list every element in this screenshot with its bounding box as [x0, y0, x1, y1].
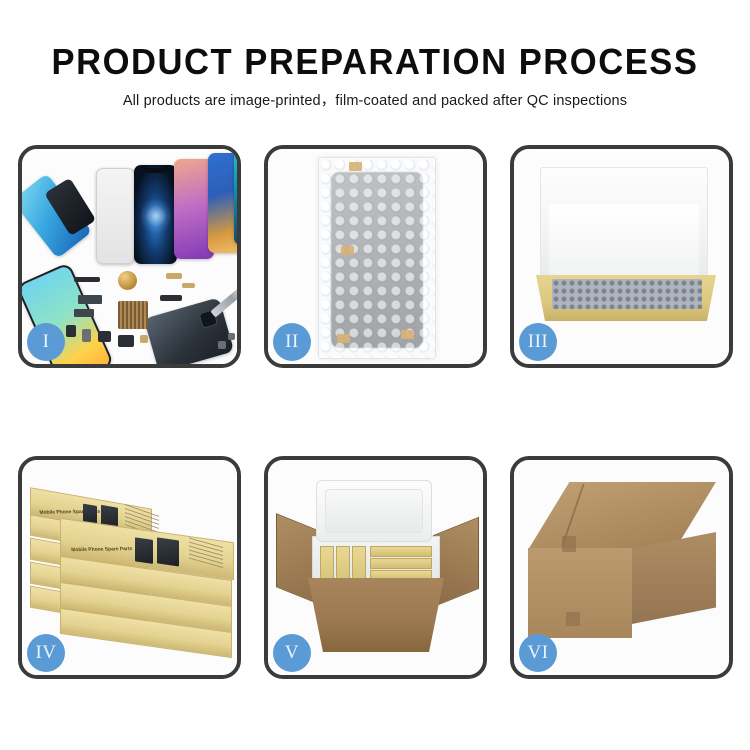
process-step-1: I [18, 145, 241, 368]
stacked-boxes-illustration: Mobile Phone Spare Parts Mobile Phone Sp… [30, 476, 236, 666]
part-speaker-icon [74, 277, 100, 282]
part-screw-icon [140, 335, 148, 343]
part-sim-tray-icon [82, 329, 91, 342]
carton-body-icon [308, 578, 444, 652]
box-screen-b1-icon [135, 537, 153, 564]
blue-screen-film-icon [22, 173, 92, 258]
part-flex-cable-2-icon [74, 309, 94, 317]
header: PRODUCT PREPARATION PROCESS All products… [0, 40, 750, 111]
step-badge-2: II [273, 323, 311, 361]
carton-front-face-icon [528, 548, 632, 638]
page-subtitle: All products are image-printed，film-coat… [0, 91, 750, 111]
inner-box-5 [370, 558, 432, 569]
carton-tape-upper [562, 536, 576, 552]
box-screen-b2-icon [157, 537, 179, 566]
white-foam-sheet-icon [540, 167, 708, 285]
tape-piece-top-icon [349, 162, 362, 171]
step-badge-1: I [27, 323, 65, 361]
vibration-motor-icon [118, 271, 137, 290]
glass-protector-icon [96, 168, 135, 264]
foam-lid-icon [316, 480, 432, 542]
page-title: PRODUCT PREPARATION PROCESS [15, 40, 735, 84]
tape-piece-mid-icon [341, 246, 354, 255]
chip-array-icon [118, 301, 148, 329]
part-screw-2-icon [218, 341, 226, 349]
inner-box-4 [370, 546, 432, 557]
phone-display-blue-icon [208, 153, 237, 253]
process-step-5: V [264, 456, 487, 679]
product-preparation-infographic: PRODUCT PREPARATION PROCESS All products… [0, 0, 750, 750]
box-text-lines-b [189, 537, 223, 569]
box-label-b: Mobile Phone Spare Parts [71, 546, 133, 553]
bubble-texture [319, 158, 435, 358]
tape-piece-bottom-right-icon [401, 330, 414, 339]
carton-tape-lower [566, 612, 580, 626]
step-badge-6: VI [519, 634, 557, 672]
process-step-6: VI [510, 456, 733, 679]
part-button-icon [66, 325, 76, 337]
part-camera-flex-icon [160, 295, 182, 301]
tape-piece-bottom-left-icon [337, 334, 350, 343]
part-connector-icon [166, 273, 182, 279]
part-screw-3-icon [228, 333, 235, 340]
part-battery-tab-icon [98, 331, 111, 342]
part-flex-gold-icon [182, 283, 195, 288]
step-badge-5: V [273, 634, 311, 672]
process-step-2: II [264, 145, 487, 368]
step-badge-3: III [519, 323, 557, 361]
part-flex-cable-icon [78, 295, 102, 304]
process-step-4: Mobile Phone Spare Parts Mobile Phone Sp… [18, 456, 241, 679]
phone-display-dark-icon [134, 165, 177, 264]
process-steps-grid: I II III [18, 145, 734, 679]
step-badge-4: IV [27, 634, 65, 672]
bubble-wrap-bag-icon [318, 157, 436, 359]
process-step-3: III [510, 145, 733, 368]
phone-display-teal-icon [234, 149, 237, 245]
part-receiver-icon [118, 335, 134, 347]
grey-foam-padding-icon [552, 279, 702, 309]
